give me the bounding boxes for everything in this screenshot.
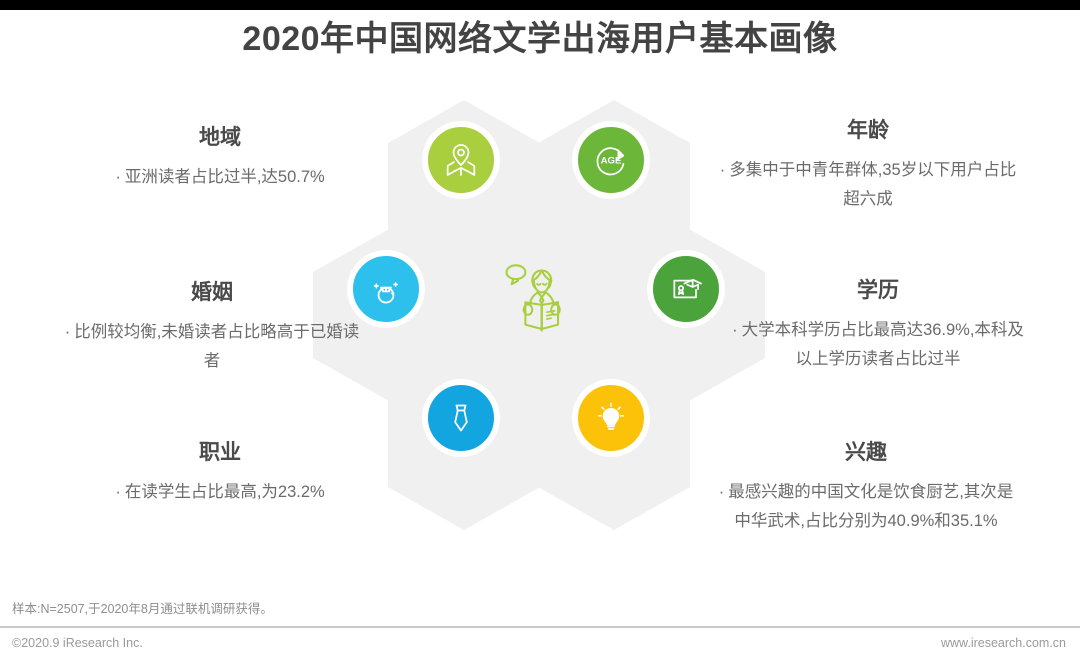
block-region-desc-text: 亚洲读者占比过半,达50.7% xyxy=(125,168,325,186)
block-education-desc-text: 大学本科学历占比最高达36.9%,本科及以上学历读者占比过半 xyxy=(742,321,1024,368)
bullet-icon: · xyxy=(65,323,71,341)
bullet-icon: · xyxy=(115,168,121,186)
center-reader-icon-wrap xyxy=(495,255,585,345)
block-interest-desc-text: 最感兴趣的中国文化是饮食厨艺,其次是中华武术,占比分别为40.9%和35.1% xyxy=(728,483,1013,530)
block-age-desc-text: 多集中于中青年群体,35岁以下用户占比超六成 xyxy=(729,161,1016,208)
block-age: 年龄 ·多集中于中青年群体,35岁以下用户占比超六成 xyxy=(718,118,1018,214)
block-education-title: 学历 xyxy=(728,278,1028,304)
top-black-bar xyxy=(0,0,1080,10)
diploma-graduation-icon xyxy=(666,269,706,309)
block-education: 学历 ·大学本科学历占比最高达36.9%,本科及以上学历读者占比过半 xyxy=(728,278,1028,374)
page-title: 2020年中国网络文学出海用户基本画像 xyxy=(0,18,1080,60)
block-region-desc: ·亚洲读者占比过半,达50.7% xyxy=(70,163,370,192)
bullet-icon: · xyxy=(115,483,121,501)
icon-circle-region[interactable] xyxy=(422,121,500,199)
age-icon-text: AGE xyxy=(601,156,622,167)
block-marriage: 婚姻 ·比例较均衡,未婚读者占比略高于已婚读者 xyxy=(62,280,362,376)
block-marriage-desc: ·比例较均衡,未婚读者占比略高于已婚读者 xyxy=(62,318,362,376)
block-occupation-desc-text: 在读学生占比最高,为23.2% xyxy=(125,483,325,501)
block-occupation-desc: ·在读学生占比最高,为23.2% xyxy=(70,478,370,507)
block-region: 地域 ·亚洲读者占比过半,达50.7% xyxy=(70,125,370,192)
hexagon-cluster: AGE xyxy=(330,100,750,530)
footer-divider xyxy=(0,626,1080,628)
infographic-page: 2020年中国网络文学出海用户基本画像 xyxy=(0,0,1080,662)
sample-note: 样本:N=2507,于2020年8月通过联机调研获得。 xyxy=(12,600,273,618)
block-occupation-title: 职业 xyxy=(70,440,370,466)
block-region-title: 地域 xyxy=(70,125,370,151)
icon-circle-occupation[interactable] xyxy=(422,379,500,457)
reader-person-icon xyxy=(497,255,583,346)
icon-circle-interest[interactable] xyxy=(572,379,650,457)
website-text: www.iresearch.com.cn xyxy=(941,636,1066,650)
copyright-text: ©2020.9 iResearch Inc. xyxy=(12,636,143,650)
age-cycle-icon: AGE xyxy=(590,139,632,181)
block-age-desc: ·多集中于中青年群体,35岁以下用户占比超六成 xyxy=(718,156,1018,214)
location-pin-icon xyxy=(441,140,481,180)
bullet-icon: · xyxy=(732,321,738,339)
block-age-title: 年龄 xyxy=(718,118,1018,144)
block-marriage-desc-text: 比例较均衡,未婚读者占比略高于已婚读者 xyxy=(74,323,359,370)
icon-circle-education[interactable] xyxy=(647,250,725,328)
block-education-desc: ·大学本科学历占比最高达36.9%,本科及以上学历读者占比过半 xyxy=(728,316,1028,374)
bullet-icon: · xyxy=(719,483,725,501)
block-occupation: 职业 ·在读学生占比最高,为23.2% xyxy=(70,440,370,507)
block-marriage-title: 婚姻 xyxy=(62,280,362,306)
block-interest: 兴趣 ·最感兴趣的中国文化是饮食厨艺,其次是中华武术,占比分别为40.9%和35… xyxy=(716,440,1016,536)
lightbulb-icon xyxy=(591,398,631,438)
necktie-icon xyxy=(441,398,481,438)
icon-circle-age[interactable]: AGE xyxy=(572,121,650,199)
wedding-ring-icon xyxy=(365,268,407,310)
block-interest-title: 兴趣 xyxy=(716,440,1016,466)
block-interest-desc: ·最感兴趣的中国文化是饮食厨艺,其次是中华武术,占比分别为40.9%和35.1% xyxy=(716,478,1016,536)
bullet-icon: · xyxy=(720,161,726,179)
